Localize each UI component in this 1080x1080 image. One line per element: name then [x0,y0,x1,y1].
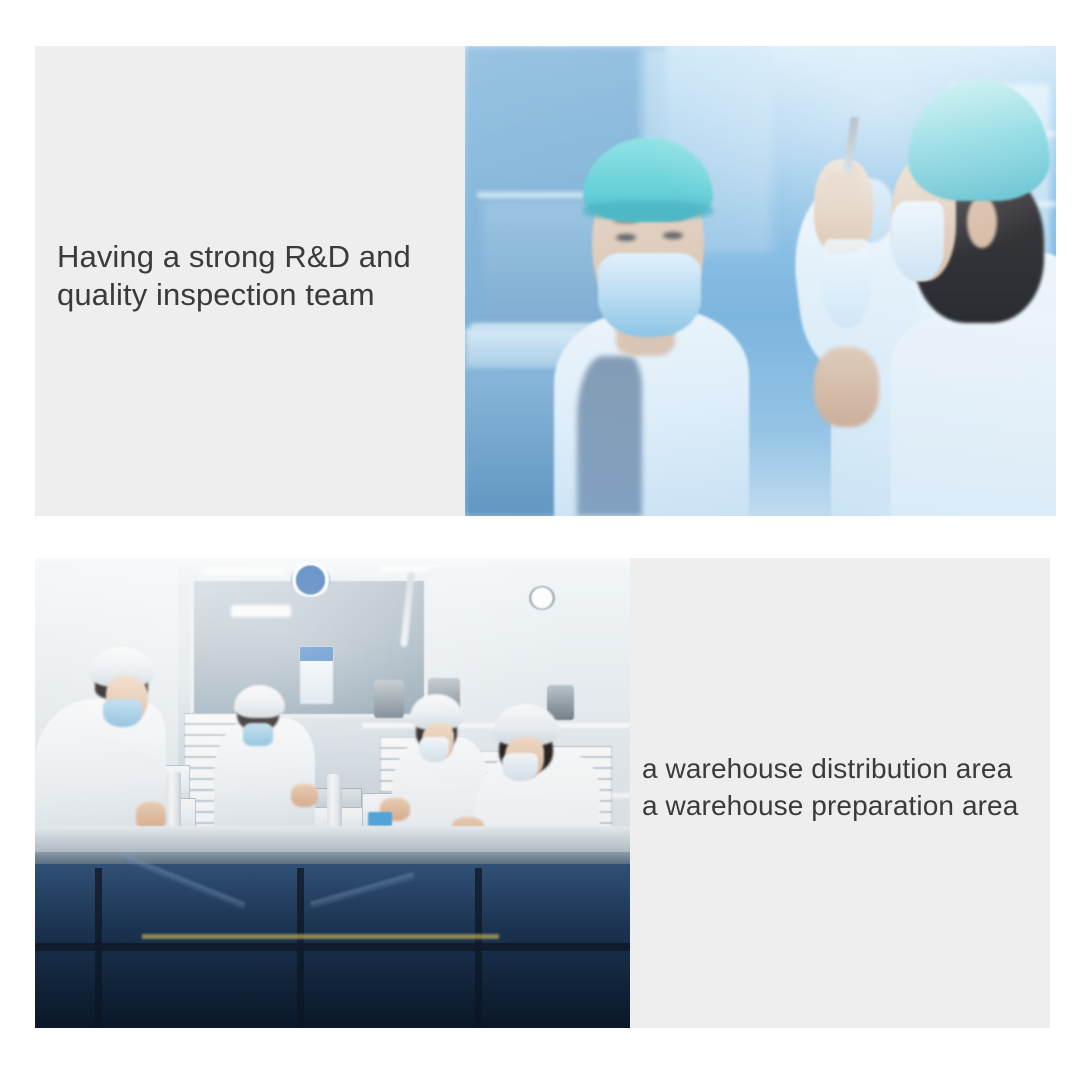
lab-worker-far-right-mask [891,201,944,281]
lab-inspection-photo [465,46,1056,516]
table-cross-rail [35,943,630,951]
floor-marking-strip [142,934,499,939]
ceiling-light-1 [202,568,285,574]
warehouse-worker-1-mask [103,699,142,727]
top-section: Having a strong R&D and quality inspecti… [35,46,1056,516]
top-caption-pane: Having a strong R&D and quality inspecti… [35,46,465,516]
tube-8 [327,774,342,828]
lab-worker-left-collar [577,356,642,516]
lab-worker-left-cap-band [583,201,713,220]
bottom-caption-pane: a warehouse distribution area a warehous… [630,558,1050,1028]
bottom-section: a warehouse distribution area a warehous… [35,558,1050,1028]
steel-pot-1 [374,680,404,718]
warehouse-worker-2-hand [291,784,318,808]
warehouse-worker-3-mask [419,737,449,763]
warehouse-packing-photo [35,558,630,1028]
lab-worker-right-lower-hand [814,347,879,427]
lab-worker-far-right-coat [891,309,1056,516]
warehouse-worker-2-mask [243,723,273,747]
lab-worker-right-finger-2 [824,173,843,206]
window-interior-light [231,605,291,617]
top-caption-text: Having a strong R&D and quality inspecti… [57,238,457,314]
warehouse-worker-4-mask [502,753,538,781]
blue-packing-item [368,812,392,826]
lab-worker-left-eye-1 [616,234,636,241]
bottom-caption-text: a warehouse distribution area a warehous… [642,750,1050,824]
wall-clock [529,586,555,610]
lab-worker-far-right-ear [967,196,997,248]
product-detail-page: Having a strong R&D and quality inspecti… [0,0,1080,1080]
lab-sample-flask [823,239,870,328]
tube-5 [166,772,181,828]
lab-worker-left-mask [598,253,701,338]
wall-notice-header [300,647,333,661]
